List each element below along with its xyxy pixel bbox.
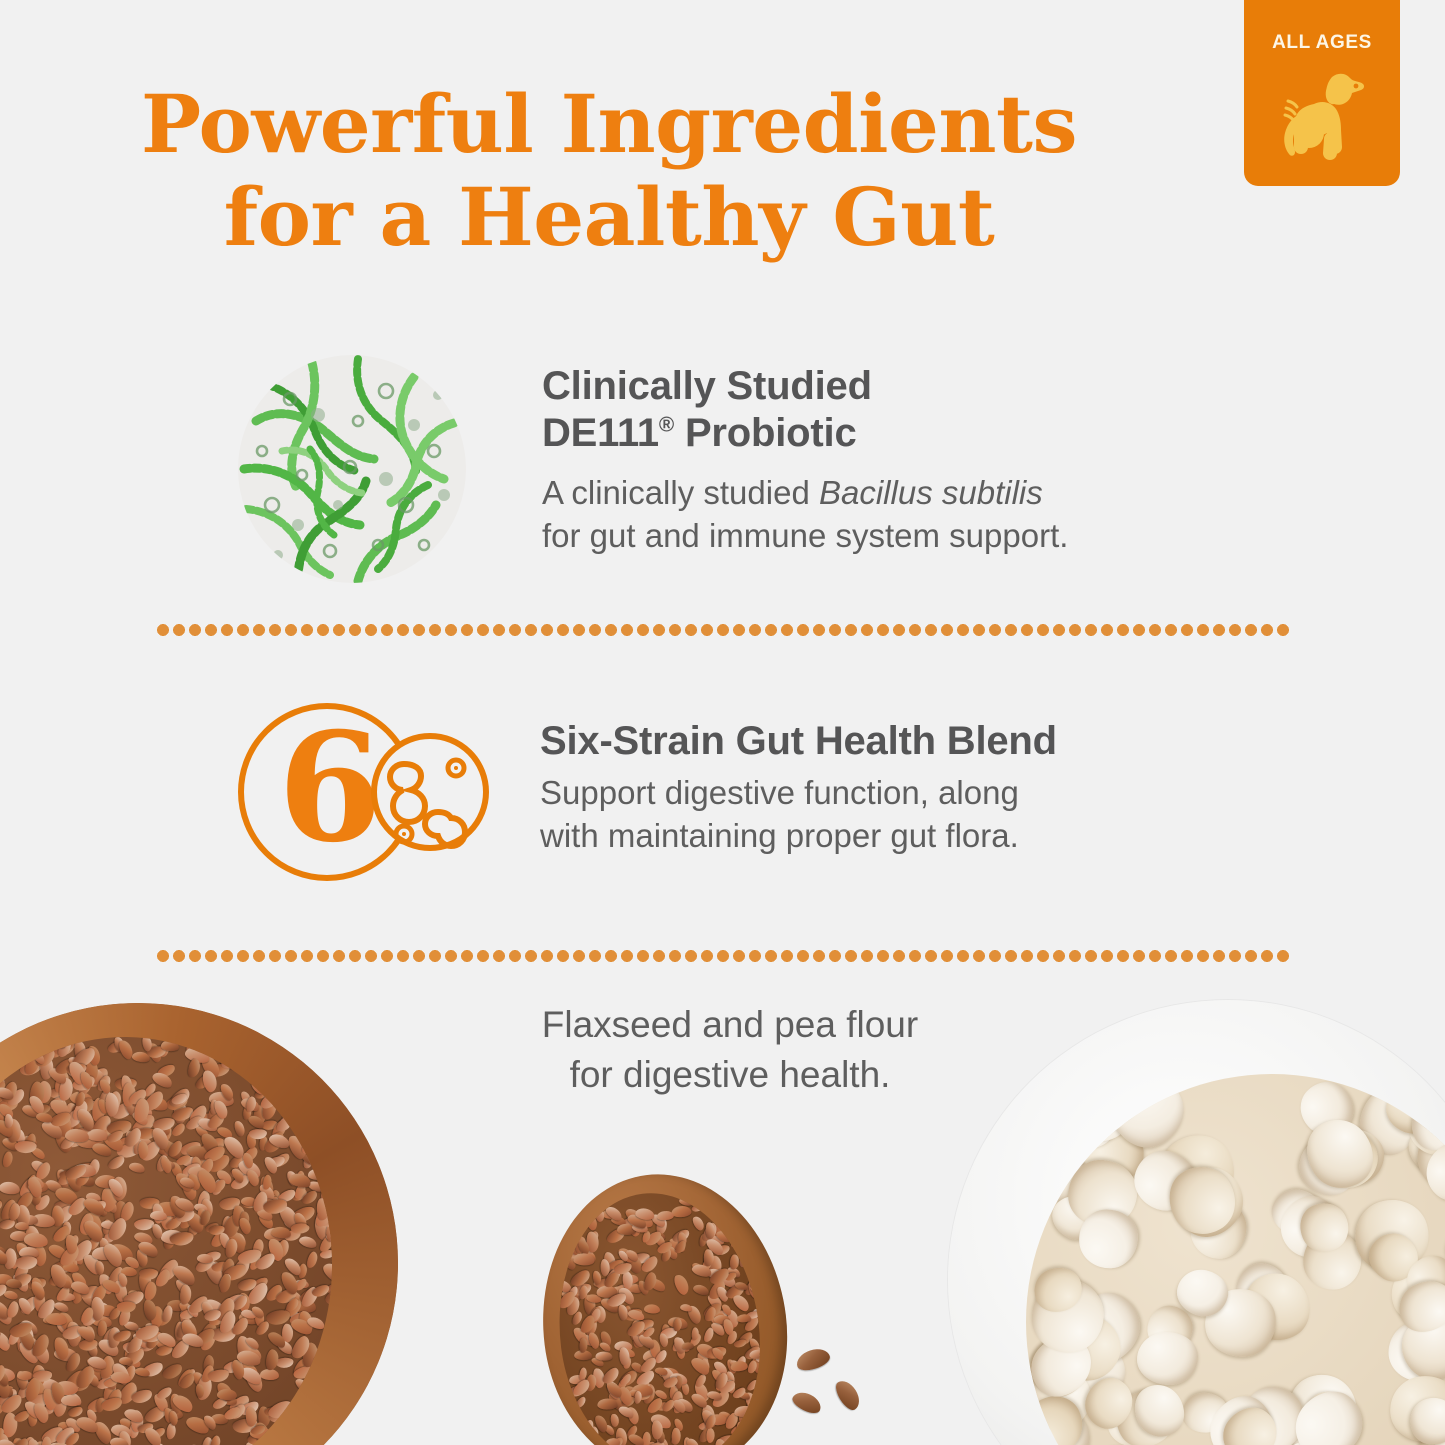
seed (298, 1234, 318, 1249)
seed (180, 1284, 193, 1305)
seed (259, 1369, 279, 1381)
seed (308, 1169, 327, 1180)
seed (0, 1181, 20, 1196)
probiotic-title-line-1: Clinically Studied (542, 364, 872, 408)
seed (745, 1231, 762, 1244)
blend-body-line-2: with maintaining proper gut flora. (540, 817, 1019, 854)
seed (682, 1342, 694, 1349)
seed (656, 1211, 673, 1221)
seed (730, 1361, 748, 1372)
seed (749, 1350, 765, 1359)
chickpea (1137, 1332, 1198, 1385)
wooden-spoon-flaxseed-photo (526, 1160, 804, 1445)
scattered-seed (790, 1388, 824, 1416)
seed (672, 1273, 691, 1297)
seed (671, 1206, 692, 1219)
seed (160, 1305, 174, 1324)
probiotic-title-line-2b: Probiotic (674, 411, 856, 455)
feature-probiotic: Clinically Studied DE111® Probiotic A cl… (238, 355, 1248, 588)
seed (644, 1304, 661, 1314)
probiotic-title-line-2a: DE111 (542, 411, 659, 455)
seed (265, 1348, 280, 1371)
seed (276, 1357, 294, 1368)
six-strain-blend-icon: 6 (232, 692, 490, 897)
seed (216, 1388, 237, 1400)
seed (761, 1335, 774, 1354)
seed (149, 1211, 166, 1221)
registered-mark: ® (659, 413, 674, 436)
probiotic-body-species: Bacillus subtilis (819, 474, 1043, 511)
page-title: Powerful Ingredients for a Healthy Gut (0, 78, 1218, 264)
caption-line-2: for digestive health. (570, 1054, 891, 1095)
infographic-canvas: ALL AGES Po (0, 0, 1445, 1445)
seed (597, 1399, 617, 1410)
flaxseed-texture (0, 1037, 332, 1445)
seed (573, 1395, 587, 1410)
seed (321, 1260, 332, 1286)
seed (322, 1094, 332, 1107)
seed (739, 1255, 747, 1268)
chickpea-texture (1026, 1074, 1445, 1445)
seed (15, 1256, 38, 1270)
scattered-flaxseeds (790, 1348, 910, 1445)
all-ages-badge: ALL AGES (1244, 0, 1400, 186)
title-line-1: Powerful Ingredients (141, 77, 1077, 171)
spoon-flaxseed-texture (544, 1182, 775, 1445)
seed (606, 1438, 620, 1445)
seed (692, 1283, 710, 1297)
seed (128, 1161, 145, 1174)
flaxseed-fill (0, 1037, 332, 1445)
caption-line-1: Flaxseed and pea flour (542, 1004, 918, 1045)
seed (573, 1253, 594, 1266)
probiotic-text: Clinically Studied DE111® Probiotic A cl… (542, 363, 1068, 558)
feature-six-strain-blend: 6 Six-Strain Gut Health Blend Support di… (232, 692, 1262, 897)
probiotic-microscope-circle-icon (238, 355, 466, 588)
seed (759, 1322, 771, 1337)
seed (234, 1120, 247, 1137)
seed (734, 1405, 754, 1417)
blend-body: Support digestive function, along with m… (540, 771, 1057, 858)
spoon-flaxseed-fill (544, 1182, 775, 1445)
bottom-caption: Flaxseed and pea flour for digestive hea… (380, 1000, 1080, 1101)
dotted-divider-1 (155, 624, 1291, 636)
seed (706, 1428, 715, 1443)
seed (737, 1313, 751, 1321)
seed (308, 1425, 332, 1439)
seed (729, 1254, 739, 1270)
seed (746, 1378, 760, 1392)
seed (306, 1251, 320, 1270)
dotted-divider-2 (155, 950, 1291, 962)
blend-number: 6 (278, 700, 382, 876)
spoon-bowl (526, 1160, 804, 1445)
seed (757, 1368, 774, 1384)
sitting-dog-icon (1274, 60, 1370, 160)
blend-body-line-1: Support digestive function, along (540, 774, 1019, 811)
seed (744, 1184, 753, 1198)
probiotic-body-line-2: for gut and immune system support. (542, 517, 1068, 554)
seed (671, 1428, 681, 1445)
seed (741, 1195, 760, 1217)
chickpea-fill (1026, 1074, 1445, 1445)
scattered-seed (832, 1377, 864, 1414)
seed (117, 1302, 136, 1313)
seed (574, 1202, 589, 1214)
probiotic-body-pre: A clinically studied (542, 474, 819, 511)
seed (773, 1418, 775, 1436)
blend-title: Six-Strain Gut Health Blend (540, 718, 1057, 765)
title-line-2: for a Healthy Gut (0, 171, 1218, 264)
probiotic-body: A clinically studied Bacillus subtilis f… (542, 471, 1068, 558)
blend-text: Six-Strain Gut Health Blend Support dige… (540, 718, 1057, 858)
probiotic-title: Clinically Studied DE111® Probiotic (542, 363, 1068, 457)
all-ages-label: ALL AGES (1272, 32, 1372, 54)
wooden-bowl-flaxseed-photo (0, 1003, 398, 1445)
seed (749, 1230, 760, 1249)
seed (691, 1202, 705, 1213)
scattered-seed (794, 1345, 832, 1374)
seed (1, 1151, 13, 1169)
